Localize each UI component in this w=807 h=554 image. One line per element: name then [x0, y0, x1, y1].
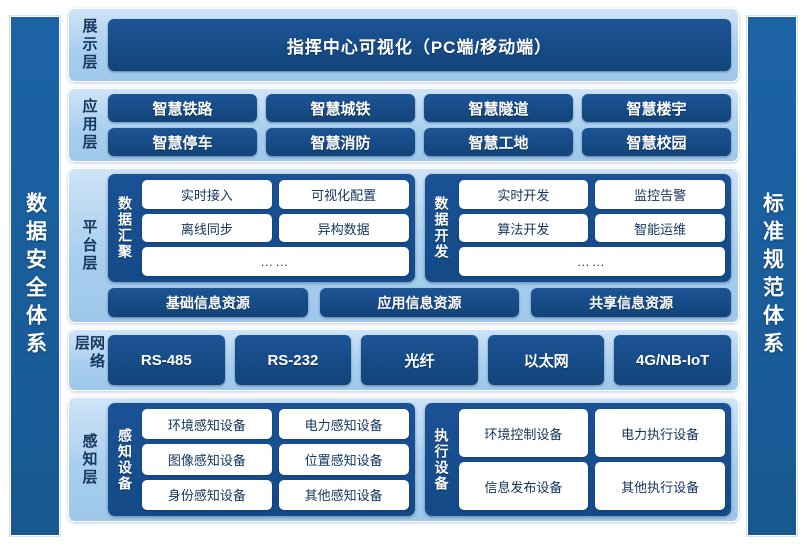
chip-information-release-device[interactable]: 信息发布设备: [459, 462, 589, 510]
chip-image-sensing-device[interactable]: 图像感知设备: [142, 444, 272, 474]
development-row-1: 实时开发 监控告警: [459, 180, 726, 209]
layer-platform-body: 数据汇聚 实时接入 可视化配置 离线同步 异构数据: [108, 174, 731, 317]
actuator-row-1: 环境控制设备 电力执行设备: [459, 409, 726, 457]
group-data-aggregation-label: 数据汇聚: [118, 196, 132, 260]
layer-perception-label-wrap: 感知层: [76, 403, 102, 516]
layer-perception: 感知层 感知设备 环境感知设备 电力感知设备: [68, 397, 739, 522]
aggregation-row-1: 实时接入 可视化配置: [142, 180, 409, 209]
platform-resource-row: 基础信息资源 应用信息资源 共享信息资源: [108, 288, 731, 317]
chip-power-actuator-device[interactable]: 电力执行设备: [595, 409, 725, 457]
tile-basic-information-resource[interactable]: 基础信息资源: [108, 288, 308, 317]
group-sensing-devices-label: 感知设备: [118, 428, 132, 492]
layer-presentation-label: 展示层: [82, 18, 97, 72]
layer-perception-label: 感知层: [82, 433, 97, 487]
layer-network-body: RS-485 RS-232 光纤 以太网 4G/NB-IoT: [108, 335, 731, 385]
layer-platform: 平台层 数据汇聚 实时接入 可视化配置: [68, 168, 739, 323]
pillar-data-security: 数据安全体系: [10, 16, 60, 536]
development-row-2: 算法开发 智能运维: [459, 214, 726, 243]
layer-network: 网络层 RS-485 RS-232 光纤 以太网 4G/NB-IoT: [68, 329, 739, 391]
chip-power-sensing-device[interactable]: 电力感知设备: [279, 409, 409, 439]
group-actuator-devices-grid: 环境控制设备 电力执行设备 信息发布设备 其他执行设备: [459, 409, 726, 510]
chip-intelligent-operations[interactable]: 智能运维: [595, 214, 725, 243]
chip-heterogeneous-data[interactable]: 异构数据: [279, 214, 409, 243]
group-actuator-devices-label-wrap: 执行设备: [431, 409, 453, 510]
chip-development-ellipsis[interactable]: ……: [459, 247, 726, 276]
application-row-2: 智慧停车 智慧消防 智慧工地 智慧校园: [108, 128, 731, 156]
group-data-development-label: 数据开发: [435, 196, 449, 260]
group-actuator-devices-label: 执行设备: [435, 428, 449, 492]
layer-presentation-body: 指挥中心可视化（PC端/移动端）: [108, 14, 731, 76]
layer-network-label: 网络层: [74, 335, 104, 385]
layer-presentation: 展示层 指挥中心可视化（PC端/移动端）: [68, 8, 739, 82]
tile-shared-information-resource[interactable]: 共享信息资源: [531, 288, 731, 317]
layer-platform-label-wrap: 平台层: [76, 174, 102, 317]
development-row-3: ……: [459, 247, 726, 276]
chip-monitoring-alarm[interactable]: 监控告警: [595, 180, 725, 209]
sensing-row-2: 图像感知设备 位置感知设备: [142, 444, 409, 474]
layer-application-body: 智慧铁路 智慧城铁 智慧隧道 智慧楼宇 智慧停车 智慧消防 智慧工地 智慧校园: [108, 94, 731, 156]
pillar-right-label: 标准规范体系: [762, 192, 783, 360]
layer-presentation-label-wrap: 展示层: [76, 14, 102, 76]
chip-environment-control-device[interactable]: 环境控制设备: [459, 409, 589, 457]
layer-stack: 展示层 指挥中心可视化（PC端/移动端） 应用层 智慧铁路 智慧城铁 智慧隧道 …: [68, 8, 739, 546]
tile-rs232[interactable]: RS-232: [235, 335, 352, 385]
tile-smart-tunnel[interactable]: 智慧隧道: [424, 94, 573, 122]
pillar-left-label: 数据安全体系: [25, 192, 46, 360]
perception-groups: 感知设备 环境感知设备 电力感知设备 图像感知设备 位置感知设备: [108, 403, 731, 516]
tile-smart-campus[interactable]: 智慧校园: [582, 128, 731, 156]
chip-other-actuator-device[interactable]: 其他执行设备: [595, 462, 725, 510]
group-data-aggregation-label-wrap: 数据汇聚: [114, 180, 136, 276]
tile-smart-building[interactable]: 智慧楼宇: [582, 94, 731, 122]
group-actuator-devices: 执行设备 环境控制设备 电力执行设备 信息发布设备 其他执行设备: [425, 403, 732, 516]
application-row-1: 智慧铁路 智慧城铁 智慧隧道 智慧楼宇: [108, 94, 731, 122]
aggregation-row-3: ……: [142, 247, 409, 276]
tile-smart-firefighting[interactable]: 智慧消防: [266, 128, 415, 156]
tile-smart-parking[interactable]: 智慧停车: [108, 128, 257, 156]
group-data-development-grid: 实时开发 监控告警 算法开发 智能运维 ……: [459, 180, 726, 276]
group-data-aggregation: 数据汇聚 实时接入 可视化配置 离线同步 异构数据: [108, 174, 415, 282]
network-row: RS-485 RS-232 光纤 以太网 4G/NB-IoT: [108, 335, 731, 385]
actuator-row-2: 信息发布设备 其他执行设备: [459, 462, 726, 510]
aggregation-row-2: 离线同步 异构数据: [142, 214, 409, 243]
tile-ethernet[interactable]: 以太网: [488, 335, 605, 385]
layer-application-label-wrap: 应用层: [76, 94, 102, 156]
layer-platform-label: 平台层: [82, 219, 97, 273]
layer-perception-body: 感知设备 环境感知设备 电力感知设备 图像感知设备 位置感知设备: [108, 403, 731, 516]
chip-realtime-development[interactable]: 实时开发: [459, 180, 589, 209]
pillar-standards-specification: 标准规范体系: [747, 16, 797, 536]
layer-application: 应用层 智慧铁路 智慧城铁 智慧隧道 智慧楼宇 智慧停车 智慧消防 智慧工地 智…: [68, 88, 739, 162]
chip-identity-sensing-device[interactable]: 身份感知设备: [142, 480, 272, 510]
tile-smart-construction-site[interactable]: 智慧工地: [424, 128, 573, 156]
group-sensing-devices-label-wrap: 感知设备: [114, 409, 136, 510]
sensing-row-1: 环境感知设备 电力感知设备: [142, 409, 409, 439]
tile-application-information-resource[interactable]: 应用信息资源: [320, 288, 520, 317]
group-data-aggregation-grid: 实时接入 可视化配置 离线同步 异构数据 ……: [142, 180, 409, 276]
group-data-development: 数据开发 实时开发 监控告警 算法开发 智能运维: [425, 174, 732, 282]
chip-offline-sync[interactable]: 离线同步: [142, 214, 272, 243]
tile-4g-nbiot[interactable]: 4G/NB-IoT: [614, 335, 731, 385]
chip-realtime-ingest[interactable]: 实时接入: [142, 180, 272, 209]
chip-location-sensing-device[interactable]: 位置感知设备: [279, 444, 409, 474]
chip-aggregation-ellipsis[interactable]: ……: [142, 247, 409, 276]
layer-network-label-wrap: 网络层: [76, 335, 102, 385]
group-sensing-devices-grid: 环境感知设备 电力感知设备 图像感知设备 位置感知设备 身份感知设备 其他感知设…: [142, 409, 409, 510]
group-data-development-label-wrap: 数据开发: [431, 180, 453, 276]
chip-visual-configuration[interactable]: 可视化配置: [279, 180, 409, 209]
group-sensing-devices: 感知设备 环境感知设备 电力感知设备 图像感知设备 位置感知设备: [108, 403, 415, 516]
tile-smart-urban-rail[interactable]: 智慧城铁: [266, 94, 415, 122]
tile-rs485[interactable]: RS-485: [108, 335, 225, 385]
architecture-diagram: 数据安全体系 展示层 指挥中心可视化（PC端/移动端） 应用层 智慧铁路 智慧城…: [0, 0, 807, 554]
sensing-row-3: 身份感知设备 其他感知设备: [142, 480, 409, 510]
tile-smart-railway[interactable]: 智慧铁路: [108, 94, 257, 122]
chip-algorithm-development[interactable]: 算法开发: [459, 214, 589, 243]
tile-command-center-visualization[interactable]: 指挥中心可视化（PC端/移动端）: [108, 19, 731, 71]
chip-environment-sensing-device[interactable]: 环境感知设备: [142, 409, 272, 439]
layer-application-label: 应用层: [82, 98, 97, 152]
platform-groups: 数据汇聚 实时接入 可视化配置 离线同步 异构数据: [108, 174, 731, 282]
chip-other-sensing-device[interactable]: 其他感知设备: [279, 480, 409, 510]
tile-optical-fiber[interactable]: 光纤: [361, 335, 478, 385]
